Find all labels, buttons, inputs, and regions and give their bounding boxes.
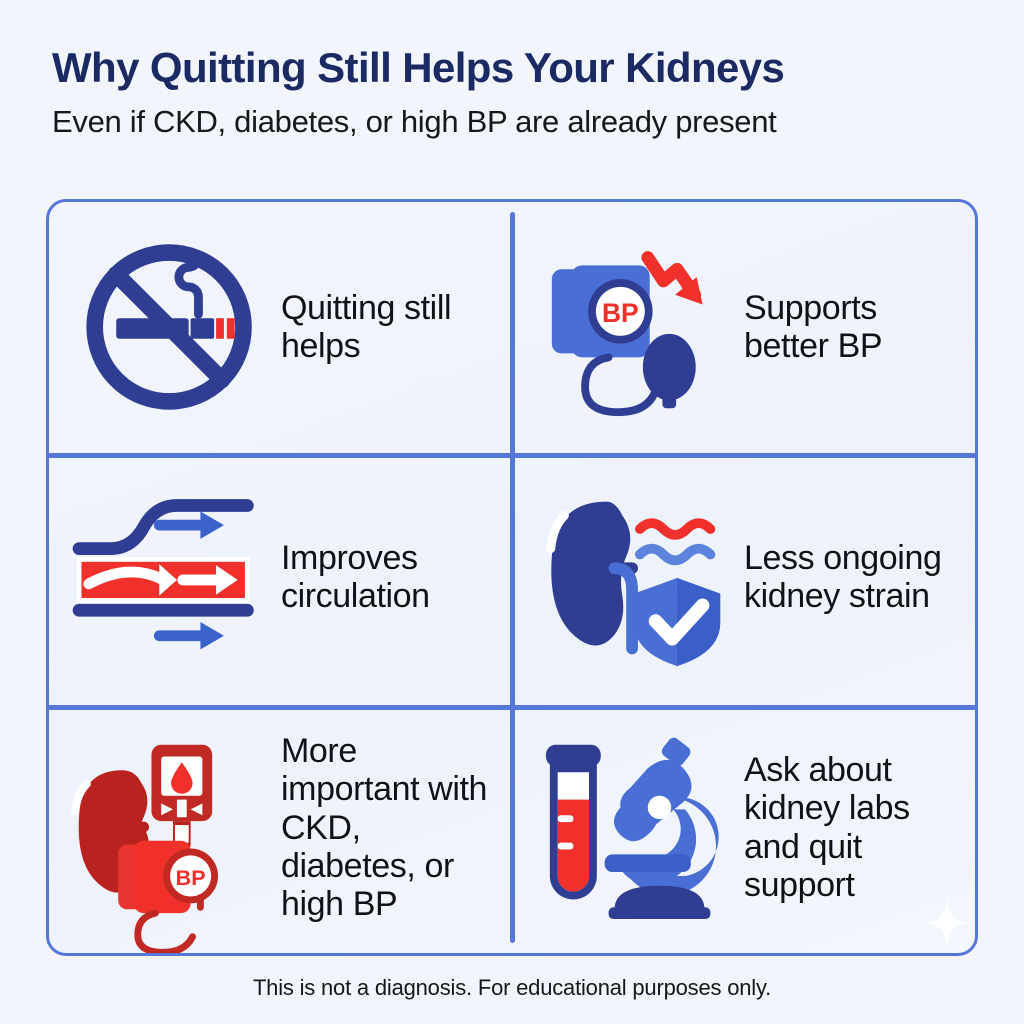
page-subtitle: Even if CKD, diabetes, or high BP are al… — [52, 104, 982, 140]
benefit-label: Ask about kidney labs and quit support — [742, 751, 961, 905]
benefits-card: Quitting still helps BP — [46, 199, 978, 956]
benefit-label: Quitting still helps — [279, 289, 498, 366]
bp-monitor-down-icon: BP — [538, 234, 734, 420]
bp-badge-text: BP — [176, 866, 206, 890]
kidney-shield-check-icon — [538, 484, 734, 670]
benefit-label: Supports better BP — [742, 289, 961, 366]
grid-divider-vertical — [510, 212, 515, 943]
footer-disclaimer: This is not a diagnosis. For educational… — [0, 975, 1024, 1001]
grid-divider-horizontal-2 — [49, 705, 975, 710]
benefit-cell-improves-circulation: Improves circulation — [49, 452, 512, 702]
benefit-label: Improves circulation — [279, 539, 498, 616]
test-tube-microscope-icon — [538, 735, 734, 921]
benefit-cell-quitting-still-helps: Quitting still helps — [49, 202, 512, 452]
bp-badge-text: BP — [602, 298, 639, 328]
infographic-poster: Why Quitting Still Helps Your Kidneys Ev… — [0, 0, 1024, 1024]
benefit-label: Less ongoing kidney strain — [742, 539, 961, 616]
benefit-cell-supports-better-bp: BP Supports better BP — [512, 202, 975, 452]
header: Why Quitting Still Helps Your Kidneys Ev… — [52, 44, 982, 140]
blood-vessel-flow-icon — [75, 484, 271, 670]
benefit-cell-less-kidney-strain: Less ongoing kidney strain — [512, 452, 975, 702]
benefit-label: More important with CKD, diabetes, or hi… — [279, 732, 498, 924]
benefits-grid: Quitting still helps BP — [49, 202, 975, 953]
benefit-cell-more-important-with-conditions: BP More important with CKD, diabetes, or… — [49, 703, 512, 953]
benefit-cell-ask-about-labs: Ask about kidney labs and quit support — [512, 703, 975, 953]
kidney-glucometer-bp-icon: BP — [75, 735, 271, 921]
page-title: Why Quitting Still Helps Your Kidneys — [52, 44, 982, 91]
grid-divider-horizontal-1 — [49, 453, 975, 458]
no-smoking-icon — [75, 234, 271, 420]
